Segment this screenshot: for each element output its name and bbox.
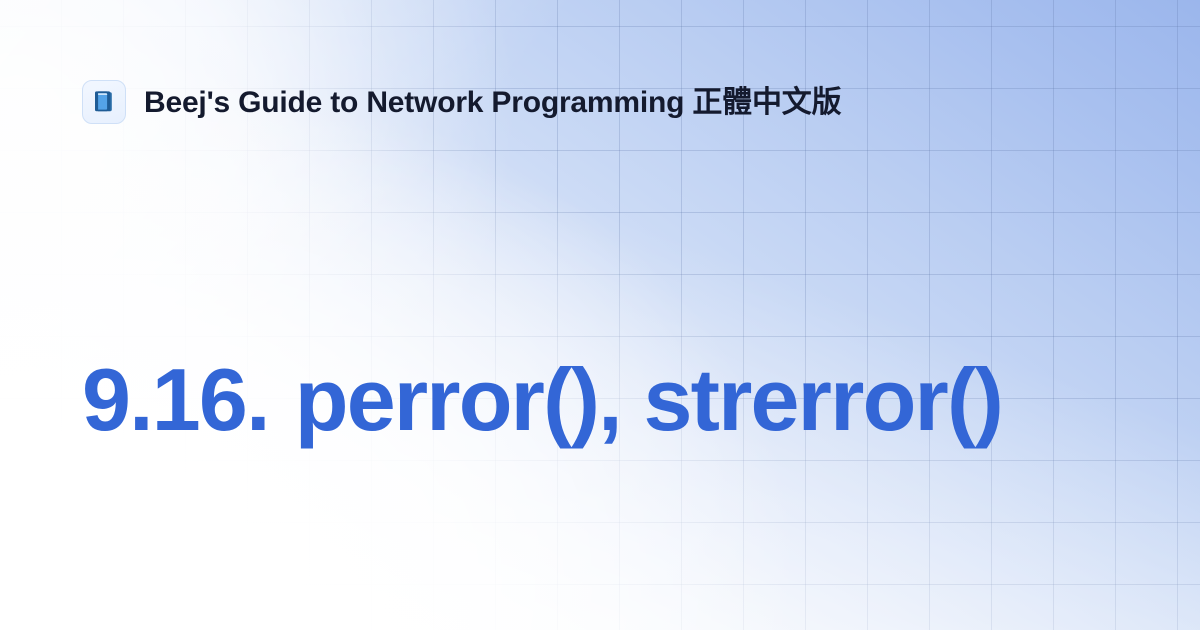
page-title: 9.16.perror(), strerror() [82, 356, 1122, 443]
page-title-text-2: strerror() [643, 350, 1002, 449]
og-card-canvas: Beej's Guide to Network Programming 正體中文… [0, 0, 1200, 630]
page-title-text: perror(), [295, 350, 621, 449]
site-title: Beej's Guide to Network Programming 正體中文… [144, 86, 841, 119]
blue-book-icon [82, 80, 126, 124]
card-content: Beej's Guide to Network Programming 正體中文… [0, 0, 1200, 630]
page-title-number: 9.16. [82, 350, 269, 449]
brand-header: Beej's Guide to Network Programming 正體中文… [82, 80, 841, 124]
